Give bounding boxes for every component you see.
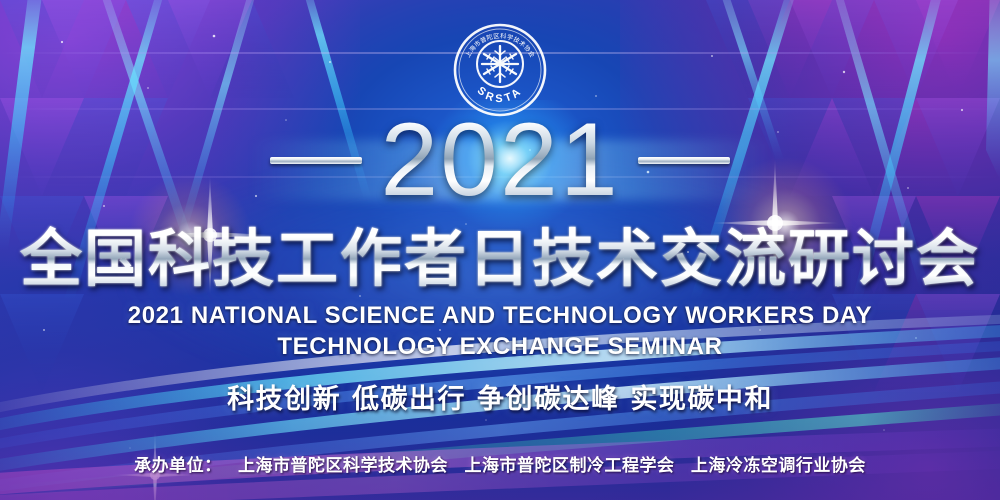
banner-content: 上海市普陀区科学技术协会 SRSTA 2021 全国科技工作者日技术交流研讨会 … (0, 0, 1000, 500)
slogan: 科技创新 低碳出行 争创碳达峰 实现碳中和 (0, 383, 1000, 417)
subtitle-en: 2021 NATIONAL SCIENCE AND TECHNOLOGY WOR… (0, 300, 1000, 362)
year-dash-left (270, 157, 362, 164)
subtitle-en-line1: 2021 NATIONAL SCIENCE AND TECHNOLOGY WOR… (0, 300, 1000, 331)
event-banner: 上海市普陀区科学技术协会 SRSTA 2021 全国科技工作者日技术交流研讨会 … (0, 0, 1000, 500)
organizers-label: 承办单位： (134, 456, 222, 476)
organizers-line: 承办单位： 上海市普陀区科学技术协会 上海市普陀区制冷工程学会 上海冷冻空调行业… (0, 455, 1000, 477)
subtitle-en-line2: TECHNOLOGY EXCHANGE SEMINAR (0, 331, 1000, 362)
main-title-cn: 全国科技工作者日技术交流研讨会 (0, 222, 1000, 296)
organizer-item-1: 上海市普陀区科学技术协会 (238, 456, 448, 476)
year-row: 2021 (0, 112, 1000, 208)
organizer-item-2: 上海市普陀区制冷工程学会 (464, 456, 674, 476)
organizer-item-3: 上海冷冻空调行业协会 (691, 456, 866, 476)
year-dash-right (638, 157, 730, 164)
year-text: 2021 (376, 108, 623, 212)
